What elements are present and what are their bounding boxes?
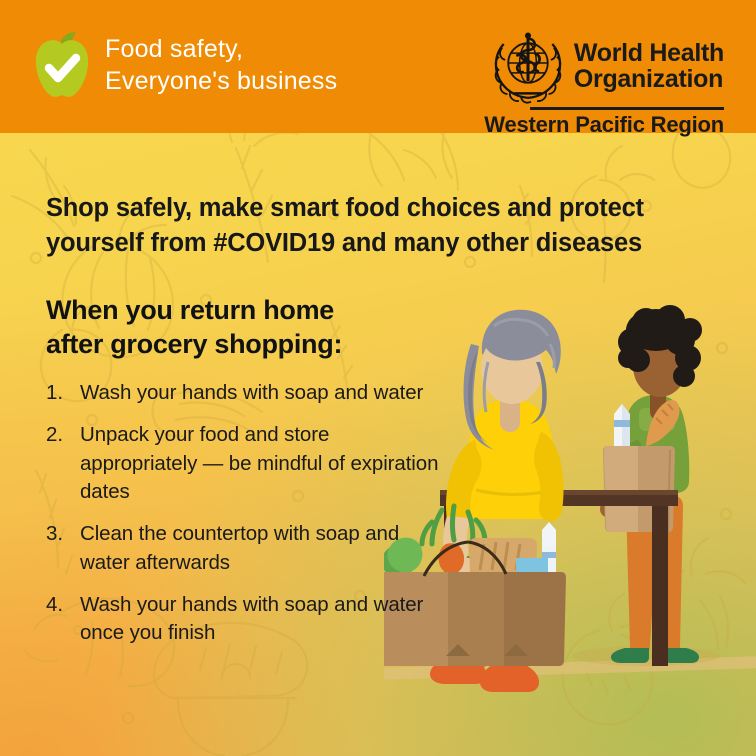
who-logo: World Health Organization Western Pacifi…: [484, 28, 724, 137]
food-safety-poster: Food safety, Everyone's business: [0, 0, 756, 756]
who-region-label: Western Pacific Region: [484, 113, 724, 137]
who-divider-rule: [530, 107, 724, 110]
poster-header: Food safety, Everyone's business: [0, 0, 756, 133]
step-number: 4.: [46, 591, 80, 648]
campaign-tagline: Food safety, Everyone's business: [105, 33, 337, 98]
green-apple-checkmark-icon: [35, 32, 89, 98]
subheading-text: When you return home after grocery shopp…: [46, 293, 466, 361]
step-item: 1.Wash your hands with soap and water: [46, 379, 446, 408]
steps-list: 1.Wash your hands with soap and water2.U…: [46, 379, 446, 648]
poster-content: Shop safely, make smart food choices and…: [0, 133, 756, 661]
step-number: 2.: [46, 421, 80, 507]
step-item: 2.Unpack your food and store appropriate…: [46, 421, 446, 507]
step-item: 3.Clean the countertop with soap and wat…: [46, 520, 446, 577]
step-number: 1.: [46, 379, 80, 408]
step-text: Wash your hands with soap and water once…: [80, 591, 446, 648]
step-text: Clean the countertop with soap and water…: [80, 520, 446, 577]
who-name-line-2: Organization: [574, 66, 723, 93]
who-name-line-1: World Health: [574, 40, 724, 67]
who-emblem-icon: [490, 28, 566, 104]
step-number: 3.: [46, 520, 80, 577]
campaign-brand: Food safety, Everyone's business: [35, 32, 337, 98]
step-text: Unpack your food and store appropriately…: [80, 421, 446, 507]
step-item: 4.Wash your hands with soap and water on…: [46, 591, 446, 648]
headline-text: Shop safely, make smart food choices and…: [46, 191, 686, 261]
step-text: Wash your hands with soap and water: [80, 379, 423, 408]
